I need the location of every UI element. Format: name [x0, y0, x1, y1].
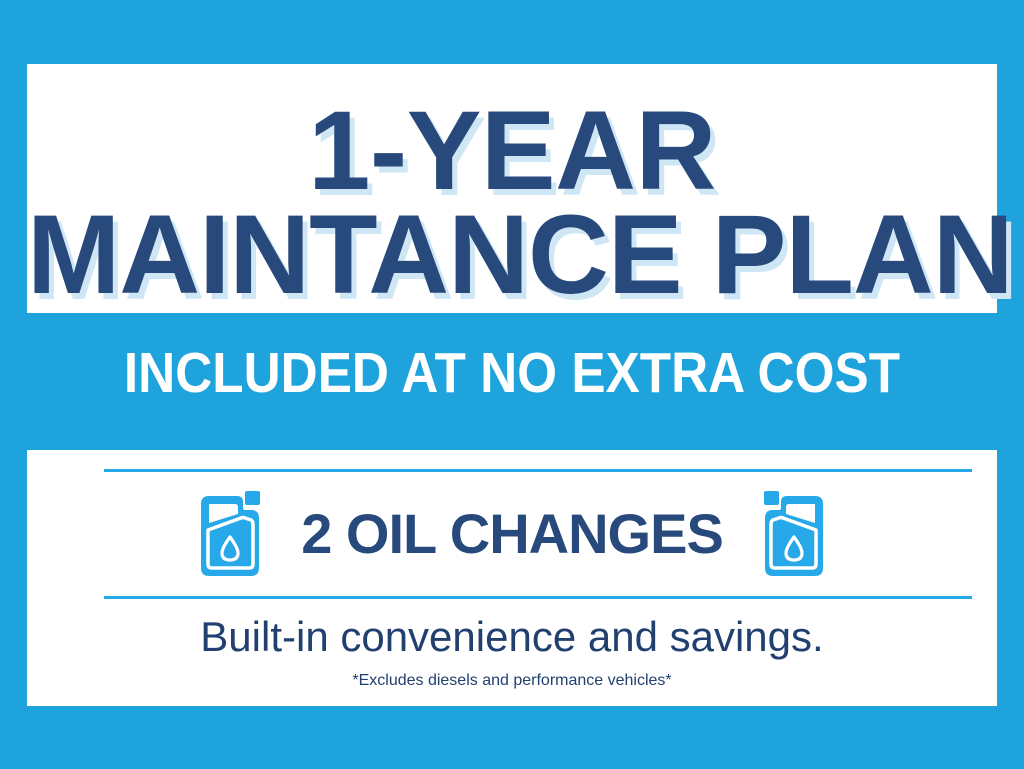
divider-bottom: [104, 596, 972, 599]
tagline: Built-in convenience and savings.: [27, 614, 997, 660]
subheading: INCLUDED AT NO EXTRA COST: [76, 345, 949, 402]
offer-row: 2 OIL CHANGES: [27, 482, 997, 586]
offer-title: 2 OIL CHANGES: [301, 506, 723, 562]
divider-top: [104, 469, 972, 472]
headline-line-2: MAINTANCE PLAN: [27, 192, 1013, 317]
headline-card: 1-YEAR MAINTANCE PLAN: [27, 64, 997, 313]
fine-print: *Excludes diesels and performance vehicl…: [27, 672, 997, 690]
offer-card: 2 OIL CHANGES Built-in convenience and s…: [27, 450, 997, 706]
oil-jug-icon-left: [193, 490, 265, 578]
promotional-poster: 1-YEAR MAINTANCE PLAN INCLUDED AT NO EXT…: [0, 0, 1024, 769]
headline-line-2-wrap: MAINTANCE PLAN: [27, 190, 997, 319]
oil-jug-icon-right: [759, 490, 831, 578]
